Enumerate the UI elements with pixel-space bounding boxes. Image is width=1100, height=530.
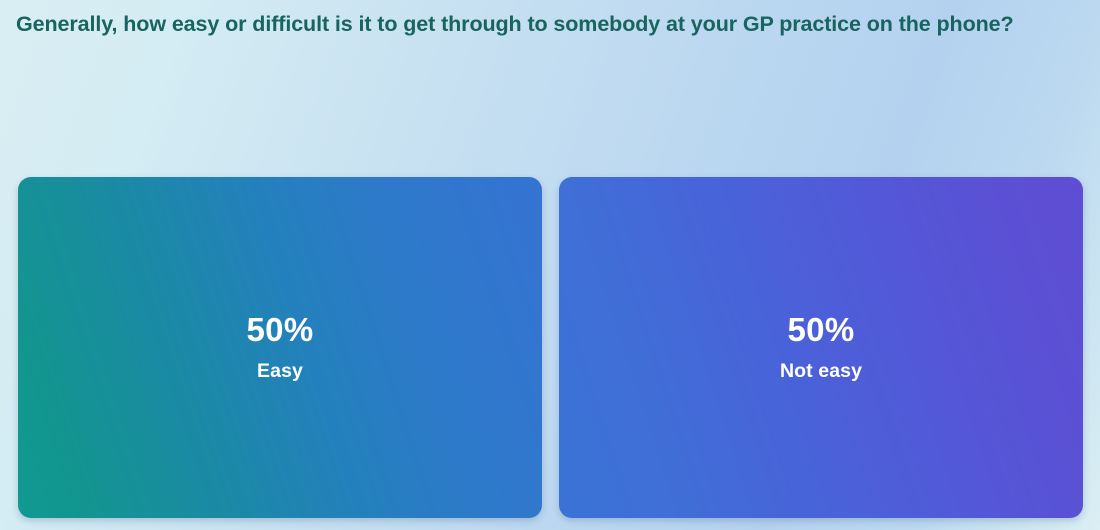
survey-result-page: Generally, how easy or difficult is it t… <box>0 0 1100 530</box>
result-card-easy[interactable]: 50% Easy <box>18 177 542 518</box>
page-title: Generally, how easy or difficult is it t… <box>16 9 1088 40</box>
result-card-not-easy[interactable]: 50% Not easy <box>559 177 1083 518</box>
result-card-not-easy-label: Not easy <box>780 358 862 384</box>
result-card-easy-label: Easy <box>257 358 303 384</box>
result-card-easy-content: 50% Easy <box>247 311 314 384</box>
result-cards-row: 50% Easy 50% Not easy <box>18 177 1083 518</box>
question-block: Generally, how easy or difficult is it t… <box>16 9 1088 40</box>
result-card-not-easy-percent: 50% <box>788 311 855 349</box>
result-card-not-easy-content: 50% Not easy <box>780 311 862 384</box>
result-card-easy-percent: 50% <box>247 311 314 349</box>
